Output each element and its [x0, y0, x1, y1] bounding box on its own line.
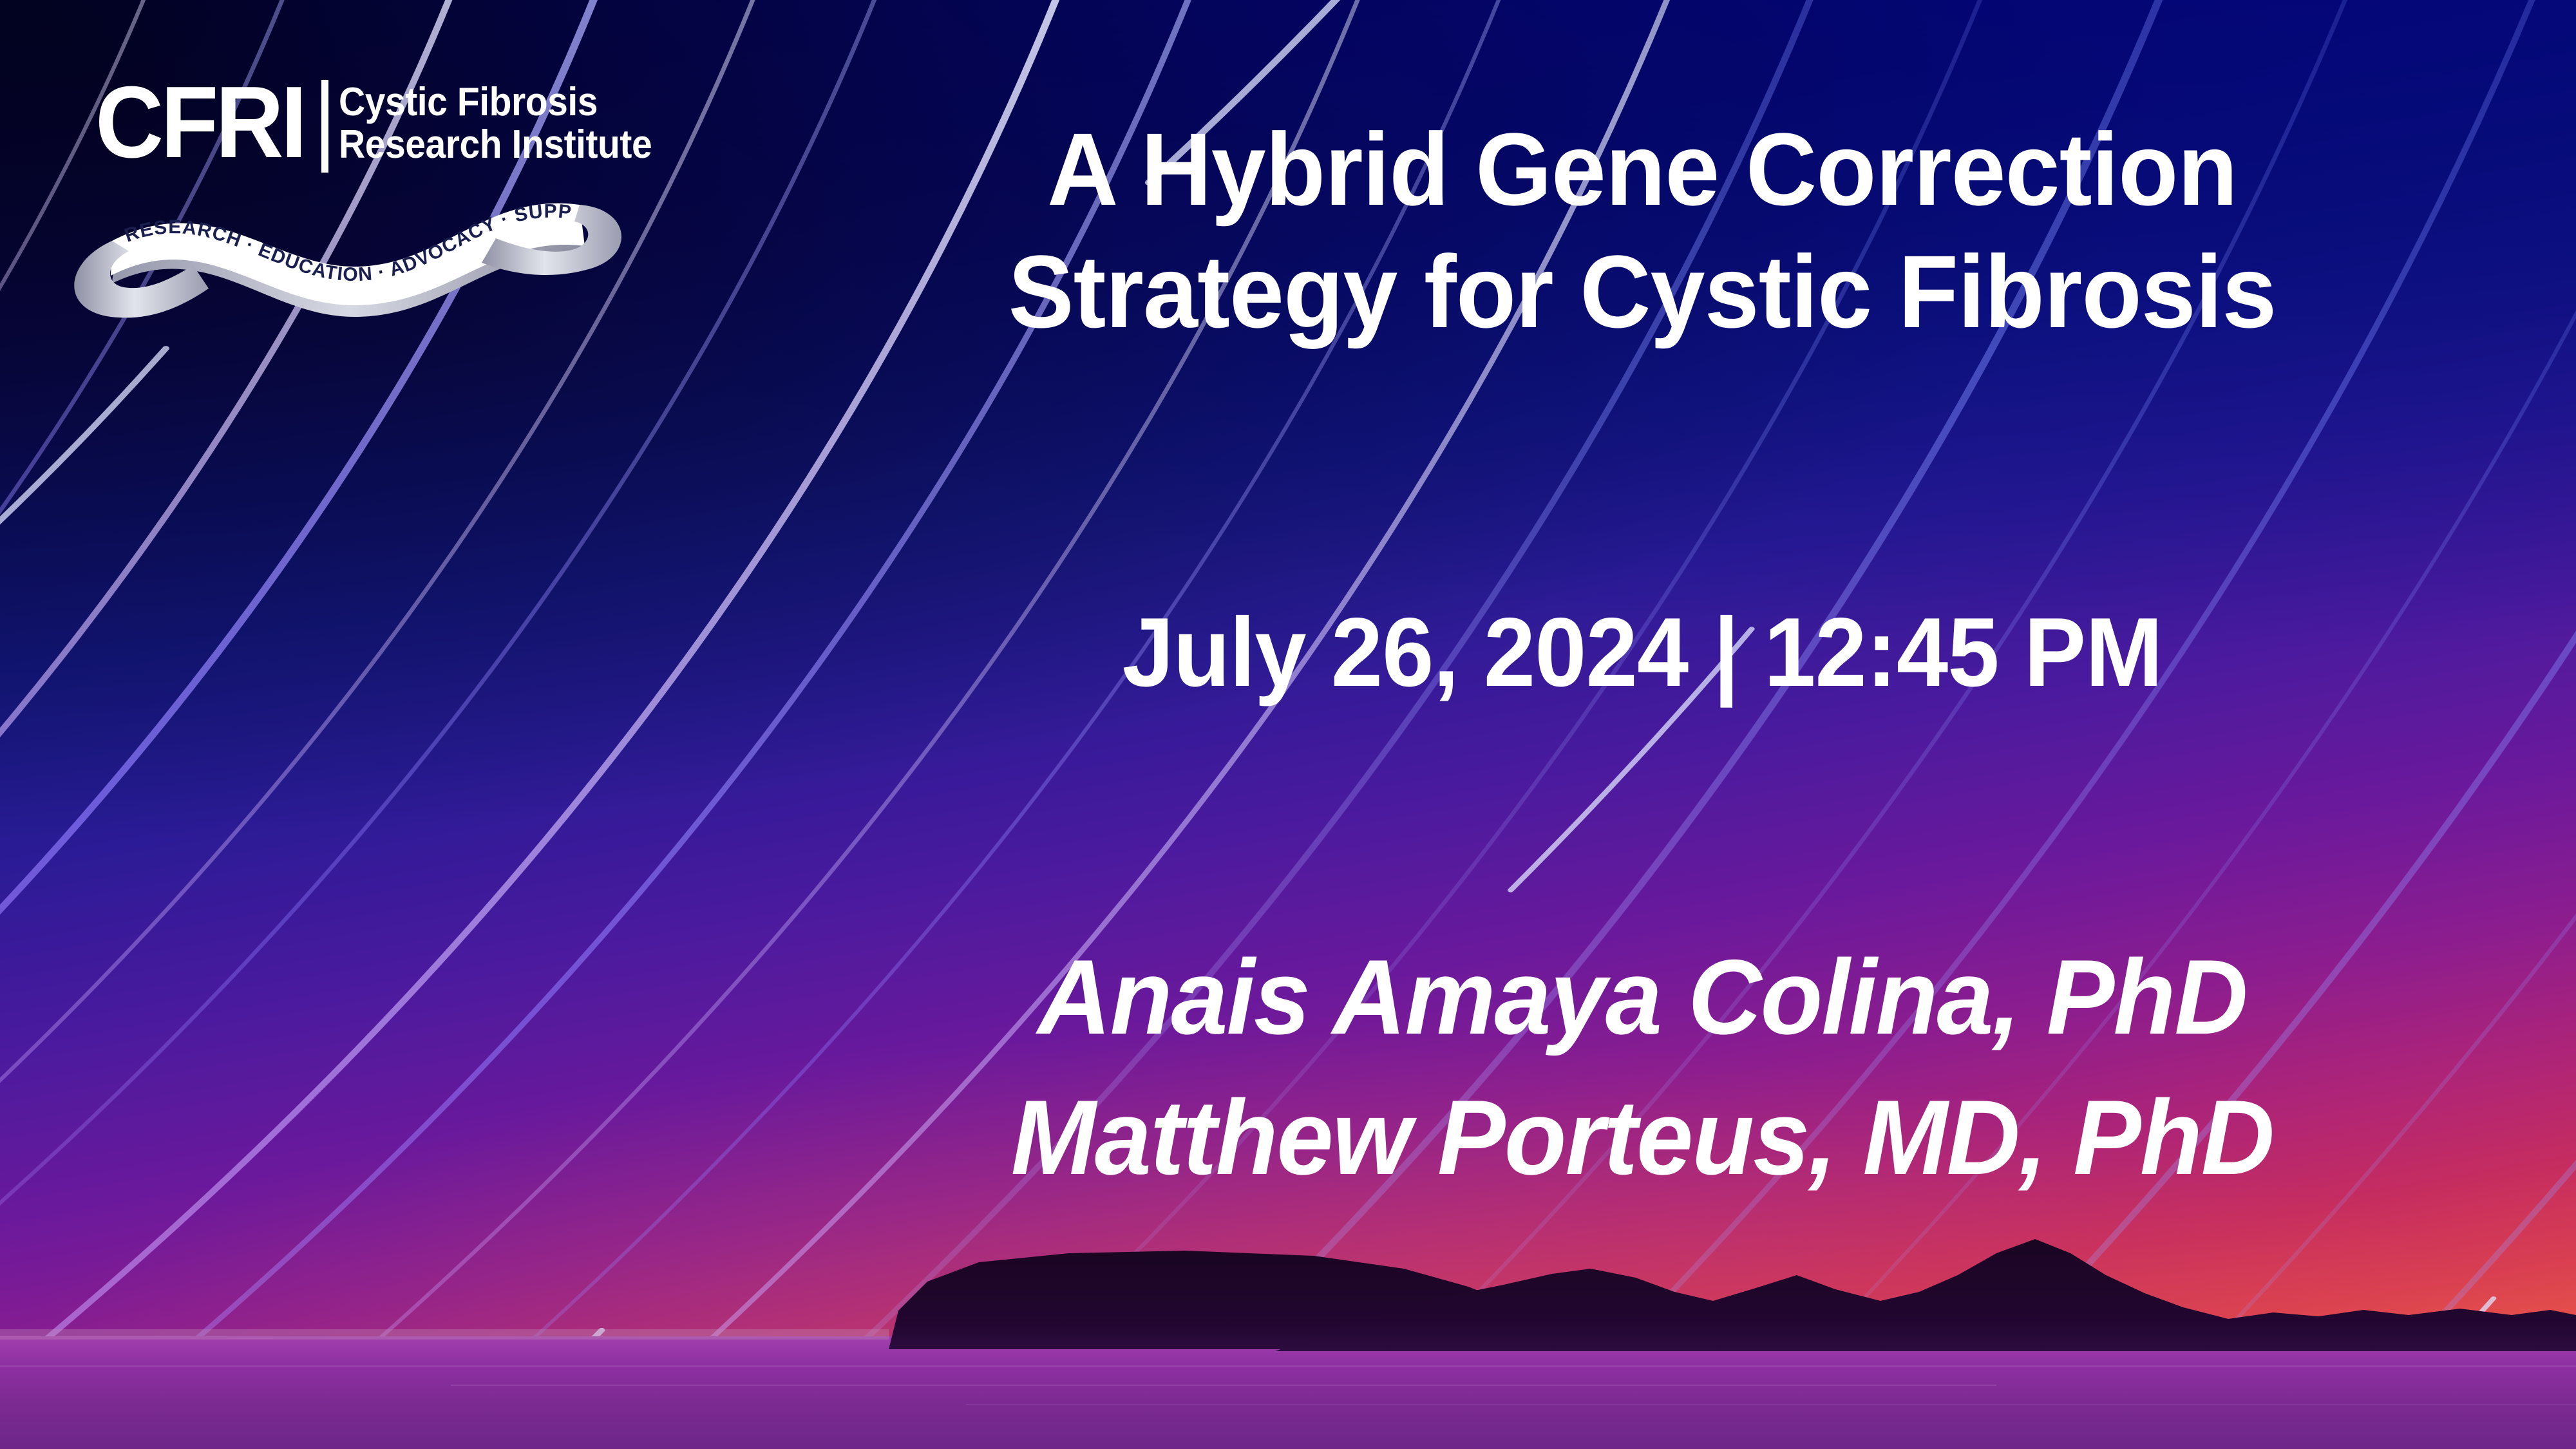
- logo-acronym: CFRI: [95, 76, 304, 169]
- speaker-name-2: Matthew Porteus, MD, PhD: [746, 1068, 2539, 1208]
- event-datetime: July 26, 2024 | 12:45 PM: [755, 599, 2530, 706]
- logo-infinity-ribbon: RESEARCH · EDUCATION · ADVOCACY · SUPPOR…: [57, 184, 636, 307]
- event-title-line-2: Strategy for Cystic Fibrosis: [750, 231, 2534, 353]
- logo-name-line-1: Cystic Fibrosis: [339, 81, 652, 124]
- event-title-line-1: A Hybrid Gene Correction: [750, 108, 2534, 231]
- speaker-name-1: Anais Amaya Colina, PhD: [746, 927, 2539, 1068]
- logo-divider-bar: [321, 80, 328, 173]
- event-poster: CFRI Cystic Fibrosis Research Institute: [0, 0, 2576, 1449]
- speaker-list: Anais Amaya Colina, PhD Matthew Porteus,…: [746, 927, 2539, 1208]
- poster-text-block: A Hybrid Gene Correction Strategy for Cy…: [708, 0, 2576, 1449]
- logo-fullname: Cystic Fibrosis Research Institute: [339, 81, 679, 166]
- logo-name-line-2: Research Institute: [339, 124, 652, 166]
- event-title: A Hybrid Gene Correction Strategy for Cy…: [750, 108, 2534, 354]
- logo-wordmark: CFRI Cystic Fibrosis Research Institute: [95, 76, 662, 193]
- cfri-logo: CFRI Cystic Fibrosis Research Institute: [95, 76, 662, 282]
